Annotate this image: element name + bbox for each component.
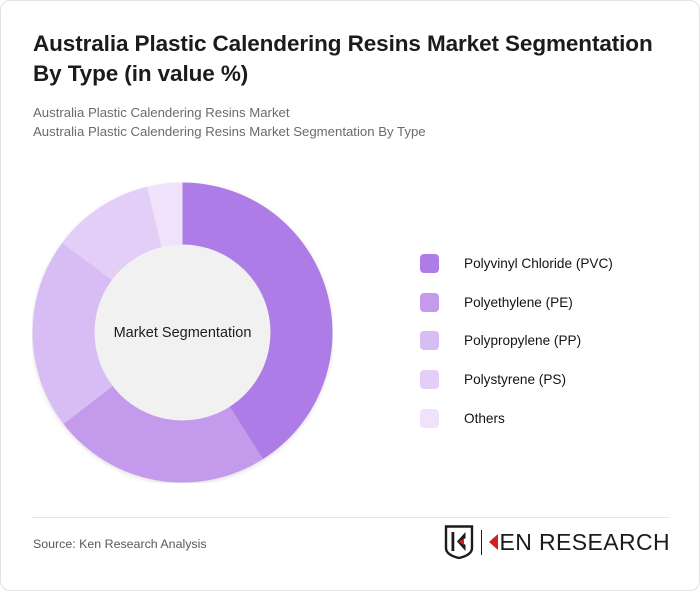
logo-divider <box>481 530 483 555</box>
logo-wordmark: EN RESEARCH <box>489 529 670 556</box>
chart-legend: Polyvinyl Chloride (PVC)Polyethylene (PE… <box>420 244 613 438</box>
logo-wordmark-text: EN RESEARCH <box>499 529 670 556</box>
subtitle-line-1: Australia Plastic Calendering Resins Mar… <box>33 103 669 122</box>
legend-swatch-icon <box>420 254 439 273</box>
legend-item-label: Polyvinyl Chloride (PVC) <box>464 256 613 271</box>
page-title: Australia Plastic Calendering Resins Mar… <box>33 29 669 89</box>
subtitle-line-2: Australia Plastic Calendering Resins Mar… <box>33 122 669 141</box>
chart-plot-area: Market Segmentation Polyvinyl Chloride (… <box>1 161 700 506</box>
footer-divider <box>32 517 670 518</box>
legend-swatch-icon <box>420 409 439 428</box>
donut-chart: Market Segmentation <box>32 182 333 483</box>
donut-hole <box>95 245 271 421</box>
legend-item[interactable]: Polypropylene (PP) <box>420 322 613 361</box>
subtitle-block: Australia Plastic Calendering Resins Mar… <box>33 103 669 141</box>
donut-svg <box>32 182 333 483</box>
legend-item[interactable]: Polyvinyl Chloride (PVC) <box>420 244 613 283</box>
legend-item-label: Others <box>464 411 505 426</box>
legend-item-label: Polystyrene (PS) <box>464 372 566 387</box>
logo-red-triangle-icon <box>489 534 498 550</box>
source-note: Source: Ken Research Analysis <box>33 537 207 551</box>
ken-research-shield-icon <box>444 525 474 559</box>
ken-research-logo: EN RESEARCH <box>444 525 670 559</box>
legend-item-label: Polypropylene (PP) <box>464 333 581 348</box>
legend-item[interactable]: Polystyrene (PS) <box>420 360 613 399</box>
chart-header: Australia Plastic Calendering Resins Mar… <box>33 29 669 141</box>
legend-item[interactable]: Polyethylene (PE) <box>420 283 613 322</box>
legend-swatch-icon <box>420 370 439 389</box>
legend-item-label: Polyethylene (PE) <box>464 295 573 310</box>
chart-card: Australia Plastic Calendering Resins Mar… <box>0 0 700 591</box>
legend-swatch-icon <box>420 331 439 350</box>
legend-item[interactable]: Others <box>420 399 613 438</box>
legend-swatch-icon <box>420 293 439 312</box>
